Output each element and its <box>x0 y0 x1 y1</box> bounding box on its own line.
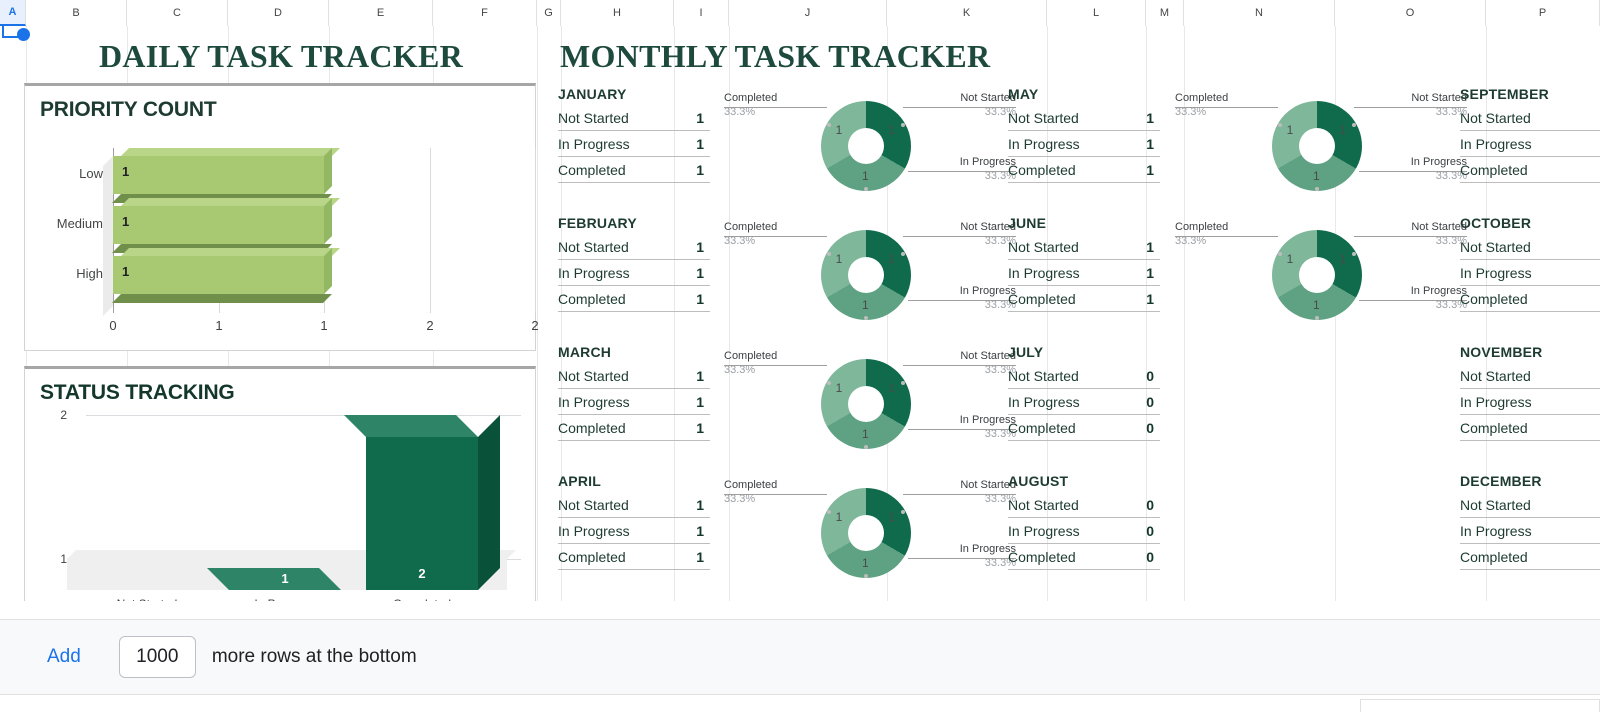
month-status-label: Not Started <box>1008 368 1079 384</box>
month-block-july: JULYNot Started0In Progress0Completed0 <box>1008 344 1160 441</box>
month-name-label: APRIL <box>558 473 710 489</box>
month-status-row[interactable]: Not Started1 <box>558 492 710 518</box>
add-rows-button[interactable]: Add <box>47 646 81 668</box>
column-header-label: I <box>699 7 702 19</box>
donut-leader-line <box>908 300 1016 301</box>
donut-leader-line <box>1359 171 1467 172</box>
priority-bar-top <box>121 248 340 256</box>
column-header-label: D <box>274 7 282 19</box>
status-column: 2 <box>366 415 478 590</box>
month-block-august: AUGUSTNot Started0In Progress0Completed0 <box>1008 473 1160 570</box>
month-status-value: 0 <box>1146 420 1160 436</box>
column-header-label: O <box>1406 7 1415 19</box>
month-status-value: 1 <box>1146 265 1160 281</box>
month-status-row[interactable]: Not Started1 <box>558 105 710 131</box>
status-tracking-chart: 21Not Started1In Progress2Completed <box>25 409 537 601</box>
column-header-label: P <box>1539 7 1546 19</box>
month-status-label: Completed <box>1008 420 1076 436</box>
column-header-h[interactable]: H <box>561 0 674 26</box>
priority-category-label: Low <box>41 166 103 181</box>
donut-slice-value: 1 <box>862 427 869 441</box>
donut-label-completed: Completed33.3% <box>724 221 834 249</box>
add-rows-count-input[interactable] <box>119 636 196 678</box>
donut-leader-line <box>1354 107 1467 108</box>
month-status-value: 0 <box>1146 523 1160 539</box>
donut-leader-line <box>908 171 1016 172</box>
month-name-label: MAY <box>1008 86 1160 102</box>
month-status-label: Not Started <box>558 239 629 255</box>
column-header-d[interactable]: D <box>228 0 329 26</box>
status-x-tick-label: In Progress <box>220 597 350 601</box>
donut-label-name: In Progress <box>916 156 1016 170</box>
month-name-label: JUNE <box>1008 215 1160 231</box>
month-status-row[interactable]: In Progress0 <box>1008 518 1160 544</box>
column-header-f[interactable]: F <box>433 0 537 26</box>
donut-slice-value: 1 <box>1339 123 1346 137</box>
month-status-value: 1 <box>1146 110 1160 126</box>
month-status-label: Not Started <box>1460 368 1531 384</box>
month-status-row[interactable]: Not Started <box>1460 492 1600 518</box>
sheet-grid[interactable]: DAILY TASK TRACKER MONTHLY TASK TRACKER … <box>0 26 1600 601</box>
month-status-label: Not Started <box>1008 497 1079 513</box>
column-header-label: J <box>805 7 811 19</box>
month-block-september: SEPTEMBERNot StartedIn ProgressCompleted <box>1460 86 1600 183</box>
donut-leader-dot <box>827 252 831 256</box>
donut-label-in-progress: In Progress33.3% <box>916 543 1016 571</box>
donut-label-name: Not Started <box>916 92 1016 106</box>
month-donut-chart-january: 111Not Started33.3%In Progress33.3%Compl… <box>716 71 1016 221</box>
month-block-february: FEBRUARYNot Started1In Progress1Complete… <box>558 215 710 312</box>
month-status-row[interactable]: In Progress0 <box>1008 389 1160 415</box>
month-status-label: Not Started <box>1460 239 1531 255</box>
month-status-value: 1 <box>1146 239 1160 255</box>
priority-bar-top <box>121 148 340 156</box>
month-donut-chart-may: 111Not Started33.3%In Progress33.3%Compl… <box>1167 71 1467 221</box>
month-status-label: Not Started <box>558 368 629 384</box>
month-block-october: OCTOBERNot StartedIn ProgressCompleted <box>1460 215 1600 312</box>
month-status-label: Completed <box>558 291 626 307</box>
column-header-i[interactable]: I <box>674 0 729 26</box>
month-status-value: 1 <box>696 368 710 384</box>
donut-label-name: Not Started <box>1367 92 1467 106</box>
sheet-tab-placeholder[interactable] <box>1360 699 1600 712</box>
donut-slice-value: 1 <box>888 510 895 524</box>
column-header-label: G <box>544 7 553 19</box>
donut-label-in-progress: In Progress33.3% <box>916 285 1016 313</box>
month-status-value: 1 <box>696 549 710 565</box>
donut-leader-dot <box>827 510 831 514</box>
donut-label-name: Completed <box>1175 221 1285 235</box>
donut-leader-line <box>724 107 827 108</box>
month-status-label: In Progress <box>558 394 630 410</box>
column-header-b[interactable]: B <box>26 0 127 26</box>
status-column-value: 1 <box>229 571 341 586</box>
month-status-row[interactable]: Completed1 <box>558 286 710 312</box>
month-status-value: 1 <box>696 265 710 281</box>
donut-label-not-started: Not Started33.3% <box>916 350 1016 378</box>
priority-count-chart: Low1Medium1High101122 <box>25 138 537 348</box>
column-header-strip: ABCDEFGHIJKLMNOP <box>0 0 1600 26</box>
donut-label-completed: Completed33.3% <box>724 350 834 378</box>
column-header-g[interactable]: G <box>537 0 561 26</box>
status-column-value: 2 <box>366 566 478 581</box>
priority-x-tick-label: 2 <box>520 318 550 333</box>
column-header-k[interactable]: K <box>887 0 1047 26</box>
priority-count-card: PRIORITY COUNT Low1Medium1High101122 <box>24 83 536 351</box>
month-status-row[interactable]: Completed1 <box>558 157 710 183</box>
month-status-value: 1 <box>1146 136 1160 152</box>
column-header-a[interactable]: A <box>0 0 26 26</box>
column-header-label: K <box>963 7 970 19</box>
column-header-label: B <box>72 7 79 19</box>
donut-label-completed: Completed33.3% <box>1175 221 1285 249</box>
donut-label-name: In Progress <box>916 543 1016 557</box>
priority-bar-side <box>324 148 332 194</box>
add-rows-suffix-label: more rows at the bottom <box>212 646 417 668</box>
donut-leader-dot <box>1352 252 1356 256</box>
donut-slice-value: 1 <box>1287 123 1294 137</box>
donut-hole <box>1299 128 1335 164</box>
donut-label-not-started: Not Started33.3% <box>1367 221 1467 249</box>
donut-leader-dot <box>827 123 831 127</box>
donut-leader-dot <box>1278 252 1282 256</box>
status-column: 1 <box>229 568 341 590</box>
column-header-label: N <box>1255 7 1263 19</box>
donut-label-name: In Progress <box>1367 285 1467 299</box>
month-status-row[interactable]: In Progress <box>1460 518 1600 544</box>
month-status-label: Completed <box>1460 162 1528 178</box>
month-status-value: 1 <box>1146 291 1160 307</box>
donut-slice-value: 1 <box>888 381 895 395</box>
donut-leader-dot <box>1278 123 1282 127</box>
donut-label-name: Completed <box>724 479 834 493</box>
donut-leader-line <box>1359 300 1467 301</box>
status-tracking-card: STATUS TRACKING 21Not Started1In Progres… <box>24 366 536 601</box>
month-name-label: DECEMBER <box>1460 473 1600 489</box>
month-name-label: MARCH <box>558 344 710 360</box>
donut-label-completed: Completed33.3% <box>1175 92 1285 120</box>
chart-left-wall <box>103 156 113 316</box>
donut-leader-dot <box>864 445 868 449</box>
donut-label-name: In Progress <box>916 285 1016 299</box>
priority-bar-face <box>113 156 324 194</box>
donut-label-not-started: Not Started33.3% <box>916 479 1016 507</box>
month-status-row[interactable]: Not Started1 <box>558 234 710 260</box>
month-status-label: Completed <box>558 162 626 178</box>
month-status-row[interactable]: Not Started <box>1460 105 1600 131</box>
month-status-label: In Progress <box>1460 394 1532 410</box>
month-donut-chart-march: 111Not Started33.3%In Progress33.3%Compl… <box>716 329 1016 479</box>
priority-category-label: High <box>41 266 103 281</box>
month-status-row[interactable]: In Progress <box>1460 260 1600 286</box>
donut-hole <box>848 128 884 164</box>
month-status-row[interactable]: Completed1 <box>558 415 710 441</box>
donut-leader-line <box>724 236 827 237</box>
column-header-e[interactable]: E <box>329 0 433 26</box>
month-status-label: Not Started <box>1008 110 1079 126</box>
donut-label-name: In Progress <box>1367 156 1467 170</box>
month-status-row[interactable]: Completed <box>1460 544 1600 570</box>
month-status-row[interactable]: Completed <box>1460 286 1600 312</box>
month-name-label: FEBRUARY <box>558 215 710 231</box>
column-header-label: A <box>9 6 17 18</box>
column-header-label: L <box>1093 7 1099 19</box>
month-status-label: In Progress <box>558 523 630 539</box>
month-status-row[interactable]: In Progress1 <box>558 131 710 157</box>
priority-bar-face <box>113 256 324 294</box>
column-header-j[interactable]: J <box>729 0 887 26</box>
month-status-label: In Progress <box>1460 265 1532 281</box>
month-block-december: DECEMBERNot StartedIn ProgressCompleted <box>1460 473 1600 570</box>
month-block-march: MARCHNot Started1In Progress1Completed1 <box>558 344 710 441</box>
donut-label-name: Not Started <box>916 479 1016 493</box>
donut-leader-line <box>1354 236 1467 237</box>
donut-slice-value: 1 <box>888 123 895 137</box>
month-status-value: 1 <box>1146 162 1160 178</box>
daily-tracker-title: DAILY TASK TRACKER <box>26 38 536 75</box>
month-donut-chart-april: 111Not Started33.3%In Progress33.3%Compl… <box>716 458 1016 601</box>
column-header-o[interactable]: O <box>1335 0 1486 26</box>
month-status-row[interactable]: In Progress1 <box>558 518 710 544</box>
donut-leader-line <box>1175 107 1278 108</box>
donut-slice-value: 1 <box>862 556 869 570</box>
month-status-value: 1 <box>696 239 710 255</box>
donut-slice-value: 1 <box>1313 169 1320 183</box>
month-status-value: 1 <box>696 136 710 152</box>
month-donut-chart-june: 111Not Started33.3%In Progress33.3%Compl… <box>1167 200 1467 350</box>
month-status-value: 1 <box>696 110 710 126</box>
month-status-value: 1 <box>696 291 710 307</box>
month-status-row[interactable]: Completed0 <box>1008 544 1160 570</box>
column-header-label: C <box>173 7 181 19</box>
priority-x-tick-label: 1 <box>309 318 339 333</box>
donut-slice-value: 1 <box>1313 298 1320 312</box>
donut-label-in-progress: In Progress33.3% <box>916 414 1016 442</box>
donut-leader-line <box>1175 236 1278 237</box>
month-name-label: SEPTEMBER <box>1460 86 1600 102</box>
month-status-label: In Progress <box>1460 136 1532 152</box>
month-status-label: In Progress <box>1008 394 1080 410</box>
donut-hole <box>848 257 884 293</box>
month-name-label: JANUARY <box>558 86 710 102</box>
donut-leader-dot <box>901 510 905 514</box>
month-status-label: Not Started <box>1460 110 1531 126</box>
priority-category-label: Medium <box>41 216 103 231</box>
status-column-top <box>344 415 478 437</box>
donut-leader-line <box>908 429 1016 430</box>
month-status-label: Completed <box>558 420 626 436</box>
month-block-april: APRILNot Started1In Progress1Completed1 <box>558 473 710 570</box>
month-status-row[interactable]: Not Started1 <box>1008 105 1160 131</box>
status-y-tick-label: 2 <box>45 408 67 422</box>
month-name-label: NOVEMBER <box>1460 344 1600 360</box>
chart-gridline <box>535 148 536 313</box>
month-name-label: AUGUST <box>1008 473 1160 489</box>
donut-leader-line <box>903 365 1016 366</box>
month-status-label: In Progress <box>558 265 630 281</box>
donut-leader-dot <box>864 574 868 578</box>
bottom-status-strip <box>0 694 1600 712</box>
month-status-value: 0 <box>1146 497 1160 513</box>
month-block-may: MAYNot Started1In Progress1Completed1 <box>1008 86 1160 183</box>
month-status-value: 1 <box>696 523 710 539</box>
month-status-row[interactable]: Not Started1 <box>1008 234 1160 260</box>
month-status-row[interactable]: Completed <box>1460 415 1600 441</box>
month-status-label: Completed <box>558 549 626 565</box>
month-name-label: OCTOBER <box>1460 215 1600 231</box>
priority-bar-side <box>324 198 332 244</box>
donut-leader-dot <box>864 316 868 320</box>
priority-x-tick-label: 1 <box>204 318 234 333</box>
donut-hole <box>848 386 884 422</box>
donut-label-name: Not Started <box>916 350 1016 364</box>
donut-label-name: Not Started <box>1367 221 1467 235</box>
donut-label-name: Not Started <box>916 221 1016 235</box>
donut-label-not-started: Not Started33.3% <box>1367 92 1467 120</box>
donut-label-name: Completed <box>1175 92 1285 106</box>
column-header-p[interactable]: P <box>1486 0 1600 26</box>
month-name-label: JULY <box>1008 344 1160 360</box>
column-header-m[interactable]: M <box>1146 0 1184 26</box>
month-status-row[interactable]: Not Started <box>1460 234 1600 260</box>
month-block-june: JUNENot Started1In Progress1Completed1 <box>1008 215 1160 312</box>
donut-slice-value: 1 <box>836 252 843 266</box>
donut-leader-dot <box>901 123 905 127</box>
priority-bar-value: 1 <box>122 164 129 179</box>
donut-hole <box>848 515 884 551</box>
donut-leader-line <box>908 558 1016 559</box>
month-status-value: 1 <box>696 162 710 178</box>
donut-leader-dot <box>1315 316 1319 320</box>
month-status-label: Not Started <box>558 497 629 513</box>
grid-column-divider <box>537 26 538 601</box>
donut-leader-dot <box>827 381 831 385</box>
priority-x-tick-label: 2 <box>415 318 445 333</box>
month-status-label: Completed <box>1460 420 1528 436</box>
month-status-row[interactable]: Completed1 <box>558 544 710 570</box>
month-block-january: JANUARYNot Started1In Progress1Completed… <box>558 86 710 183</box>
month-status-row[interactable]: Not Started <box>1460 363 1600 389</box>
donut-leader-line <box>903 236 1016 237</box>
donut-label-in-progress: In Progress33.3% <box>916 156 1016 184</box>
month-status-label: In Progress <box>1008 523 1080 539</box>
month-status-row[interactable]: Completed <box>1460 157 1600 183</box>
month-status-row[interactable]: Not Started0 <box>1008 492 1160 518</box>
month-status-value: 1 <box>696 420 710 436</box>
column-header-l[interactable]: L <box>1047 0 1146 26</box>
spreadsheet-app: ABCDEFGHIJKLMNOP DAILY TASK TRACKER MONT… <box>0 0 1600 712</box>
donut-label-in-progress: In Progress33.3% <box>1367 285 1467 313</box>
column-header-label: H <box>613 7 621 19</box>
month-status-label: In Progress <box>1008 265 1080 281</box>
priority-bar: 1 <box>113 198 324 253</box>
status-x-tick-label: Completed <box>357 597 487 601</box>
donut-leader-line <box>903 494 1016 495</box>
priority-bar-value: 1 <box>122 214 129 229</box>
month-status-row[interactable]: In Progress1 <box>558 389 710 415</box>
donut-hole <box>1299 257 1335 293</box>
month-status-label: Completed <box>1460 291 1528 307</box>
donut-slice-value: 1 <box>862 298 869 312</box>
column-header-label: M <box>1160 7 1169 19</box>
donut-slice-value: 1 <box>836 123 843 137</box>
donut-label-completed: Completed33.3% <box>724 479 834 507</box>
status-y-tick-label: 1 <box>45 552 67 566</box>
month-status-row[interactable]: Not Started0 <box>1008 363 1160 389</box>
donut-label-not-started: Not Started33.3% <box>916 92 1016 120</box>
month-status-value: 0 <box>1146 549 1160 565</box>
month-status-row[interactable]: Completed0 <box>1008 415 1160 441</box>
column-header-label: E <box>377 7 384 19</box>
donut-slice-value: 1 <box>888 252 895 266</box>
donut-label-name: In Progress <box>916 414 1016 428</box>
donut-label-name: Completed <box>724 92 834 106</box>
column-header-n[interactable]: N <box>1184 0 1335 26</box>
priority-bar: 1 <box>113 248 324 303</box>
status-tracking-title: STATUS TRACKING <box>40 381 235 405</box>
month-status-row[interactable]: Completed1 <box>1008 157 1160 183</box>
month-status-label: Completed <box>1460 549 1528 565</box>
donut-label-name: Completed <box>724 350 834 364</box>
month-status-row[interactable]: Completed1 <box>1008 286 1160 312</box>
month-status-label: In Progress <box>1460 523 1532 539</box>
month-status-row[interactable]: In Progress1 <box>558 260 710 286</box>
month-status-label: Completed <box>1008 549 1076 565</box>
month-status-value: 1 <box>696 394 710 410</box>
donut-leader-dot <box>901 252 905 256</box>
month-status-label: Not Started <box>558 110 629 126</box>
priority-count-title: PRIORITY COUNT <box>40 98 217 122</box>
priority-bar-top <box>121 198 340 206</box>
month-status-value: 0 <box>1146 394 1160 410</box>
donut-label-name: Completed <box>724 221 834 235</box>
month-status-label: Completed <box>1008 162 1076 178</box>
donut-slice-value: 1 <box>836 381 843 395</box>
month-status-row[interactable]: In Progress1 <box>1008 131 1160 157</box>
donut-label-completed: Completed33.3% <box>724 92 834 120</box>
status-x-tick-label: Not Started <box>82 597 212 601</box>
priority-bar-face <box>113 206 324 244</box>
priority-bar-bottom <box>112 294 332 303</box>
donut-leader-line <box>724 365 827 366</box>
donut-leader-line <box>724 494 827 495</box>
donut-slice-value: 1 <box>836 510 843 524</box>
donut-leader-dot <box>1315 187 1319 191</box>
month-status-row[interactable]: Not Started1 <box>558 363 710 389</box>
priority-bar-value: 1 <box>122 264 129 279</box>
donut-leader-line <box>903 107 1016 108</box>
month-donut-chart-february: 111Not Started33.3%In Progress33.3%Compl… <box>716 200 1016 350</box>
priority-bar-side <box>324 248 332 294</box>
monthly-tracker-title: MONTHLY TASK TRACKER <box>560 38 990 75</box>
priority-bar: 1 <box>113 148 324 203</box>
column-header-c[interactable]: C <box>127 0 228 26</box>
month-status-row[interactable]: In Progress <box>1460 131 1600 157</box>
month-status-label: In Progress <box>558 136 630 152</box>
month-status-row[interactable]: In Progress1 <box>1008 260 1160 286</box>
priority-x-tick-label: 0 <box>98 318 128 333</box>
month-status-value: 0 <box>1146 368 1160 384</box>
donut-slice-value: 1 <box>862 169 869 183</box>
donut-slice-value: 1 <box>1339 252 1346 266</box>
add-rows-bar: Add more rows at the bottom <box>0 619 1600 694</box>
status-column-side <box>478 415 500 590</box>
month-status-label: Not Started <box>1460 497 1531 513</box>
month-status-row[interactable]: In Progress <box>1460 389 1600 415</box>
donut-label-in-progress: In Progress33.3% <box>1367 156 1467 184</box>
month-status-value: 1 <box>696 497 710 513</box>
column-header-label: F <box>481 7 488 19</box>
